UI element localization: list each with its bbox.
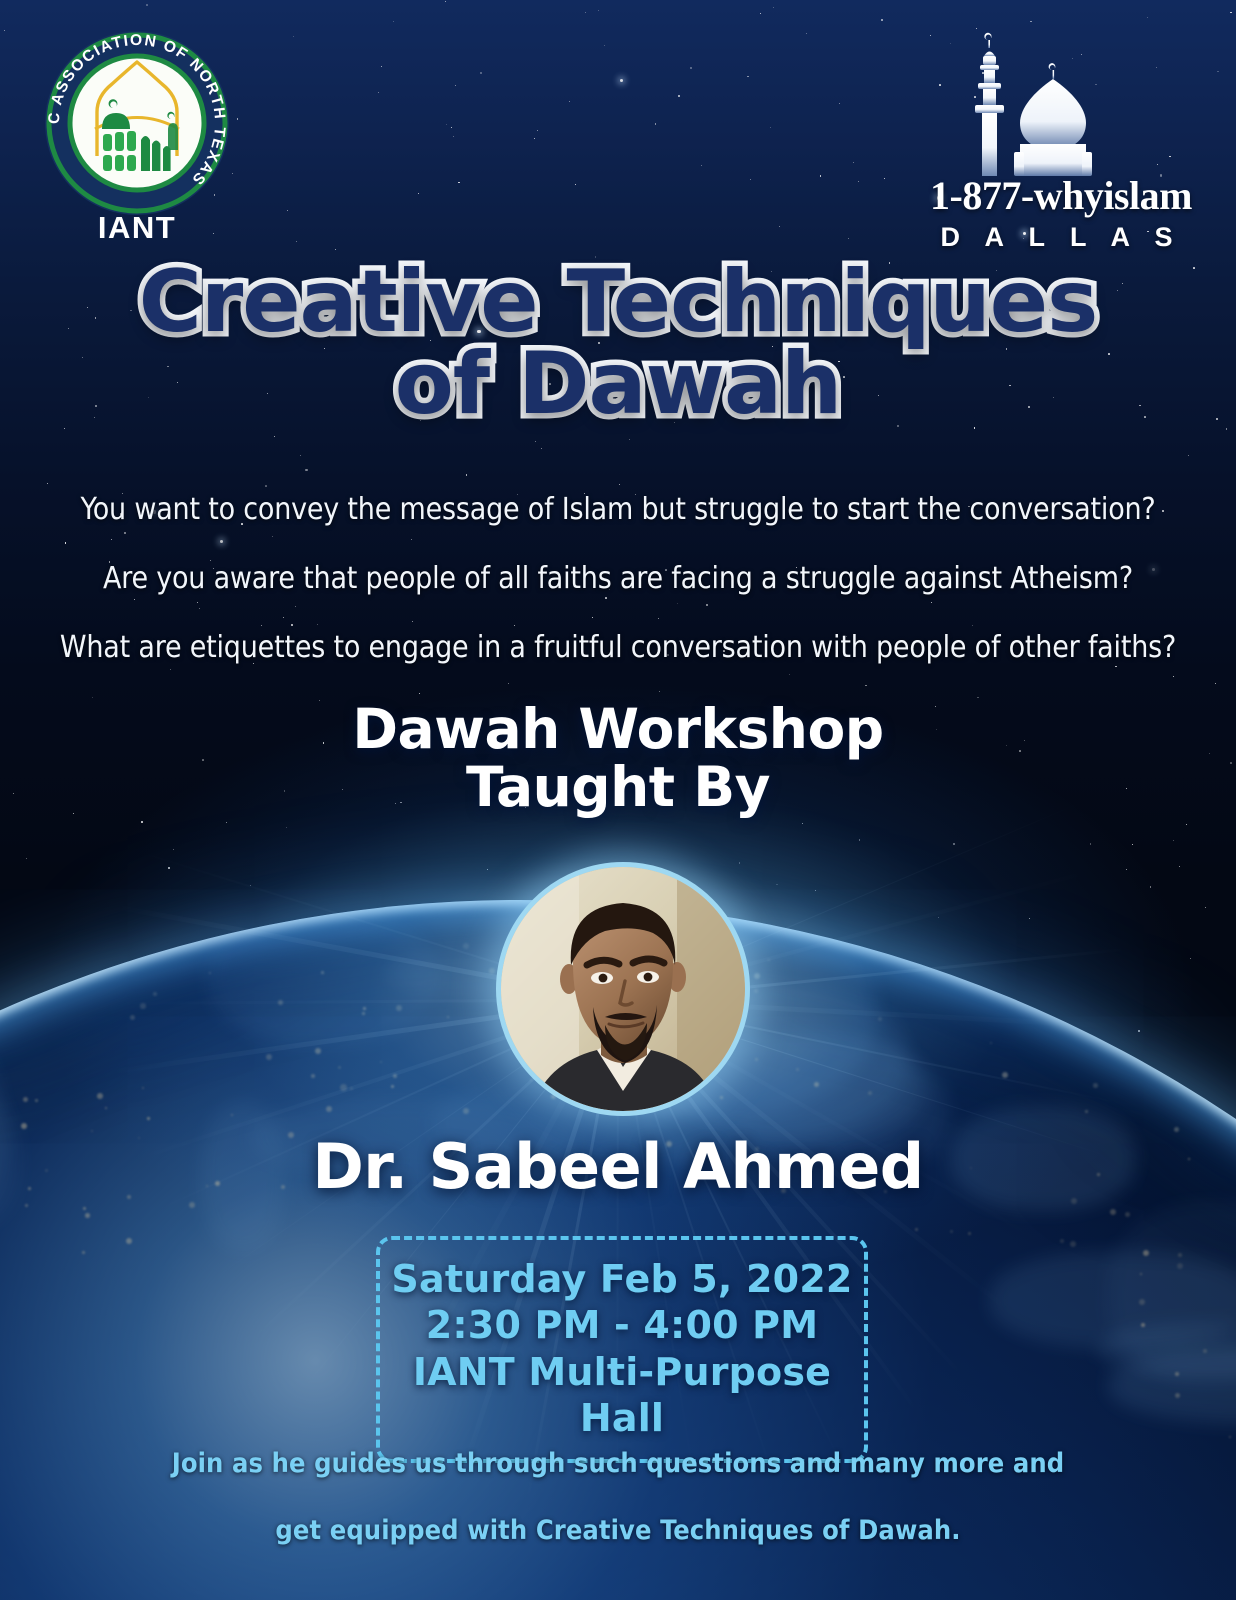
event-venue: IANT Multi-Purpose Hall bbox=[380, 1349, 864, 1442]
iant-mosque-emblem-icon: ISLAMIC ASSOCIATION OF NORTH TEXAS bbox=[42, 28, 232, 218]
footer-line-1: Join as he guides us through such questi… bbox=[0, 1448, 1236, 1479]
whyislam-phone: 1-877-whyislam bbox=[926, 172, 1196, 219]
title-line-1: Creative Techniques bbox=[0, 262, 1236, 344]
event-time: 2:30 PM - 4:00 PM bbox=[380, 1302, 864, 1348]
whyislam-city: D A L L A S bbox=[926, 222, 1196, 253]
whyislam-logo: 1-877-whyislam D A L L A S bbox=[926, 26, 1196, 246]
title-line-2: of Dawah bbox=[0, 344, 1236, 426]
speaker-name: Dr. Sabeel Ahmed bbox=[0, 1130, 1236, 1203]
question-2: Are you aware that people of all faiths … bbox=[0, 561, 1236, 596]
workshop-heading: Dawah Workshop Taught By bbox=[0, 700, 1236, 817]
event-details-box: Saturday Feb 5, 2022 2:30 PM - 4:00 PM I… bbox=[376, 1236, 868, 1463]
event-poster: ISLAMIC ASSOCIATION OF NORTH TEXAS IANT bbox=[0, 0, 1236, 1600]
poster-title: Creative Techniques of Dawah bbox=[0, 262, 1236, 425]
question-3: What are etiquettes to engage in a fruit… bbox=[0, 630, 1236, 665]
footer-line-2: get equipped with Creative Techniques of… bbox=[0, 1515, 1236, 1546]
mosque-minaret-dome-icon bbox=[926, 26, 1196, 176]
iant-logo: ISLAMIC ASSOCIATION OF NORTH TEXAS IANT bbox=[42, 28, 257, 243]
question-1: You want to convey the message of Islam … bbox=[0, 492, 1236, 527]
footer-message: Join as he guides us through such questi… bbox=[0, 1448, 1236, 1582]
speaker-portrait-photo bbox=[501, 867, 745, 1111]
event-date: Saturday Feb 5, 2022 bbox=[380, 1256, 864, 1302]
question-list: You want to convey the message of Islam … bbox=[0, 492, 1236, 699]
speaker-avatar bbox=[496, 862, 750, 1116]
workshop-line-1: Dawah Workshop bbox=[0, 700, 1236, 758]
workshop-line-2: Taught By bbox=[0, 758, 1236, 816]
iant-acronym: IANT bbox=[42, 210, 232, 246]
